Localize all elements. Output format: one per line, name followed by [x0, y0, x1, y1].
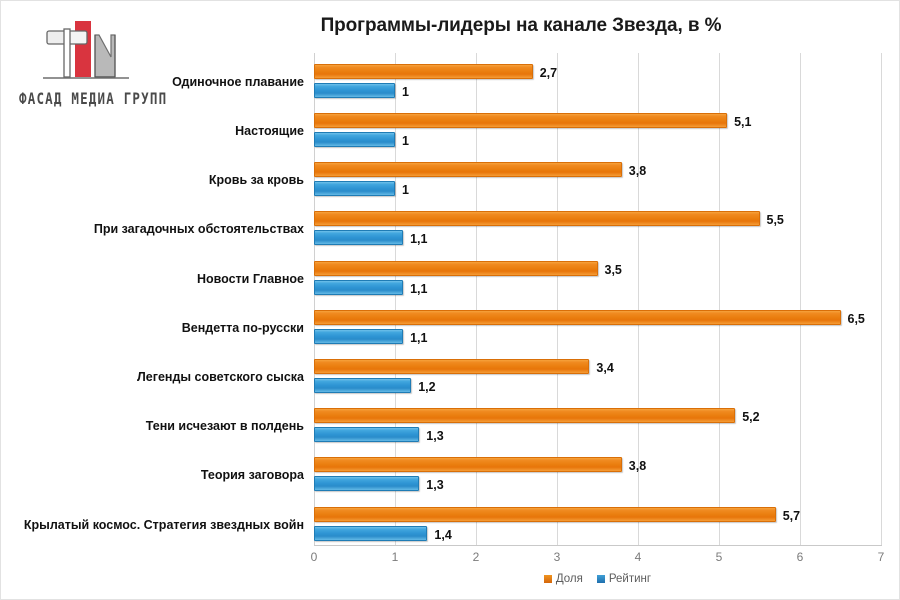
- chart-legend: Доля Рейтинг: [314, 573, 881, 585]
- bar-share[interactable]: [314, 457, 622, 472]
- x-tick-label: 1: [375, 550, 415, 564]
- bar-value-rating: 1,2: [418, 381, 435, 394]
- category-label: Новости Главное: [197, 273, 304, 286]
- bar-value-share: 5,5: [767, 214, 784, 227]
- category-label: Вендетта по-русски: [182, 322, 304, 335]
- bar-value-rating: 1: [402, 86, 409, 99]
- bar-value-rating: 1: [402, 135, 409, 148]
- bar-rating[interactable]: [314, 132, 395, 147]
- bar-value-rating: 1: [402, 184, 409, 197]
- x-tick-label: 0: [294, 550, 334, 564]
- facade-media-group-logo-icon: [37, 15, 137, 87]
- bar-rating[interactable]: [314, 427, 419, 442]
- legend-item-share[interactable]: Доля: [544, 573, 583, 585]
- bar-rating[interactable]: [314, 230, 403, 245]
- bar-value-share: 5,1: [734, 116, 751, 129]
- x-tick-label: 5: [699, 550, 739, 564]
- category-label: Настоящие: [235, 125, 304, 138]
- category-label: При загадочных обстоятельствах: [94, 223, 304, 236]
- x-tick-label: 7: [861, 550, 900, 564]
- legend-swatch-share-icon: [544, 575, 552, 583]
- x-tick-label: 3: [537, 550, 577, 564]
- bar-value-rating: 1,3: [426, 430, 443, 443]
- bar-value-share: 3,5: [605, 264, 622, 277]
- legend-swatch-rating-icon: [597, 575, 605, 583]
- bar-value-rating: 1,1: [410, 233, 427, 246]
- bar-value-rating: 1,1: [410, 283, 427, 296]
- bar-rating[interactable]: [314, 476, 419, 491]
- gridline: [881, 53, 882, 545]
- x-tick-label: 4: [618, 550, 658, 564]
- bar-share[interactable]: [314, 408, 735, 423]
- legend-label-rating: Рейтинг: [609, 573, 651, 585]
- category-label: Теория заговора: [201, 469, 304, 482]
- bar-value-share: 3,4: [596, 362, 613, 375]
- bar-share[interactable]: [314, 261, 598, 276]
- x-tick-label: 6: [780, 550, 820, 564]
- bar-rating[interactable]: [314, 83, 395, 98]
- bar-share[interactable]: [314, 507, 776, 522]
- category-label: Тени исчезают в полдень: [146, 420, 304, 433]
- category-label: Кровь за кровь: [209, 174, 304, 187]
- logo-text: ФАСАД МЕДИА ГРУПП: [19, 89, 159, 108]
- bar-share[interactable]: [314, 359, 589, 374]
- bar-rating[interactable]: [314, 378, 411, 393]
- bar-value-share: 6,5: [848, 313, 865, 326]
- bar-share[interactable]: [314, 64, 533, 79]
- bar-share[interactable]: [314, 113, 727, 128]
- bar-value-share: 3,8: [629, 165, 646, 178]
- category-label: Легенды советского сыска: [137, 371, 304, 384]
- bar-rating[interactable]: [314, 280, 403, 295]
- bar-rating[interactable]: [314, 526, 427, 541]
- bar-value-rating: 1,4: [434, 529, 451, 542]
- bar-value-rating: 1,3: [426, 479, 443, 492]
- bar-share[interactable]: [314, 310, 841, 325]
- bar-value-share: 2,7: [540, 67, 557, 80]
- bar-rating[interactable]: [314, 329, 403, 344]
- logo: ФАСАД МЕДИА ГРУПП: [19, 15, 159, 115]
- category-label: Одиночное плавание: [172, 76, 304, 89]
- legend-item-rating[interactable]: Рейтинг: [597, 573, 651, 585]
- legend-label-share: Доля: [556, 573, 583, 585]
- x-axis-line: [314, 545, 882, 546]
- bar-value-rating: 1,1: [410, 332, 427, 345]
- x-tick-label: 2: [456, 550, 496, 564]
- chart-canvas: ФАСАД МЕДИА ГРУПП Программы-лидеры на ка…: [0, 0, 900, 600]
- bar-share[interactable]: [314, 162, 622, 177]
- bar-share[interactable]: [314, 211, 760, 226]
- gridline: [800, 53, 801, 545]
- category-label: Крылатый космос. Стратегия звездных войн: [24, 519, 304, 532]
- bar-rating[interactable]: [314, 181, 395, 196]
- chart-title: Программы-лидеры на канале Звезда, в %: [161, 15, 881, 37]
- bar-value-share: 5,7: [783, 510, 800, 523]
- bar-value-share: 3,8: [629, 460, 646, 473]
- bar-value-share: 5,2: [742, 411, 759, 424]
